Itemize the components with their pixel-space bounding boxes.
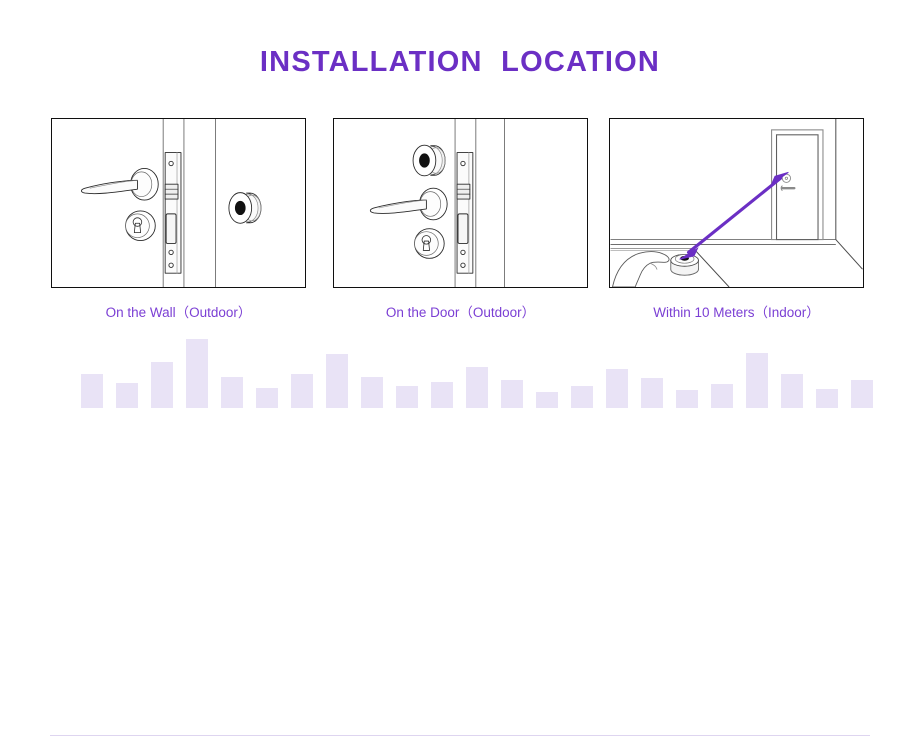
sensor-device-icon xyxy=(413,145,445,176)
bar-chart-bar xyxy=(746,353,768,408)
bar-chart-bar xyxy=(851,380,873,408)
decorative-bar-chart xyxy=(0,328,920,412)
room-door xyxy=(772,130,823,240)
bar-chart-bar xyxy=(256,388,278,408)
bar-chart-bar xyxy=(781,374,803,408)
bar-chart-bar xyxy=(221,377,243,408)
bar-chart-bar xyxy=(571,386,593,408)
bar-chart-bar xyxy=(431,382,453,408)
illustration-door-sensor-on-wall xyxy=(52,119,305,287)
bar-chart-bar xyxy=(361,377,383,408)
bar-chart-bar xyxy=(186,339,208,408)
illustration-indoor-range xyxy=(610,119,863,287)
caption-on-the-wall: On the Wall（Outdoor） xyxy=(51,301,306,321)
bar-chart-bar xyxy=(816,389,838,408)
bar-chart-bars xyxy=(0,328,920,408)
bar-chart-bar xyxy=(116,383,138,408)
caption-within-10-meters: Within 10 Meters（Indoor） xyxy=(609,301,864,321)
bar-chart-bar xyxy=(606,369,628,408)
installation-location-graphic: INSTALLATION LOCATION xyxy=(0,0,920,460)
bar-chart-bar xyxy=(676,390,698,408)
bar-chart-bar xyxy=(711,384,733,408)
bar-chart-bar xyxy=(536,392,558,408)
caption-on-the-door: On the Door（Outdoor） xyxy=(333,301,588,321)
bar-chart-bar xyxy=(501,380,523,408)
bar-chart-bar xyxy=(466,367,488,408)
illustration-door-sensor-on-door xyxy=(334,119,587,287)
panel-on-the-wall xyxy=(51,118,306,288)
bar-chart-bar xyxy=(326,354,348,408)
bar-chart-bar xyxy=(396,386,418,408)
panel-within-10-meters xyxy=(609,118,864,288)
bar-chart-bar xyxy=(81,374,103,408)
bar-chart-bar xyxy=(291,374,313,408)
panel-on-the-door xyxy=(333,118,588,288)
bar-chart-bar xyxy=(641,378,663,408)
page-title: INSTALLATION LOCATION xyxy=(0,46,920,79)
bar-chart-bar xyxy=(151,362,173,408)
hand-icon xyxy=(612,252,669,287)
sensor-device-icon xyxy=(229,193,261,224)
